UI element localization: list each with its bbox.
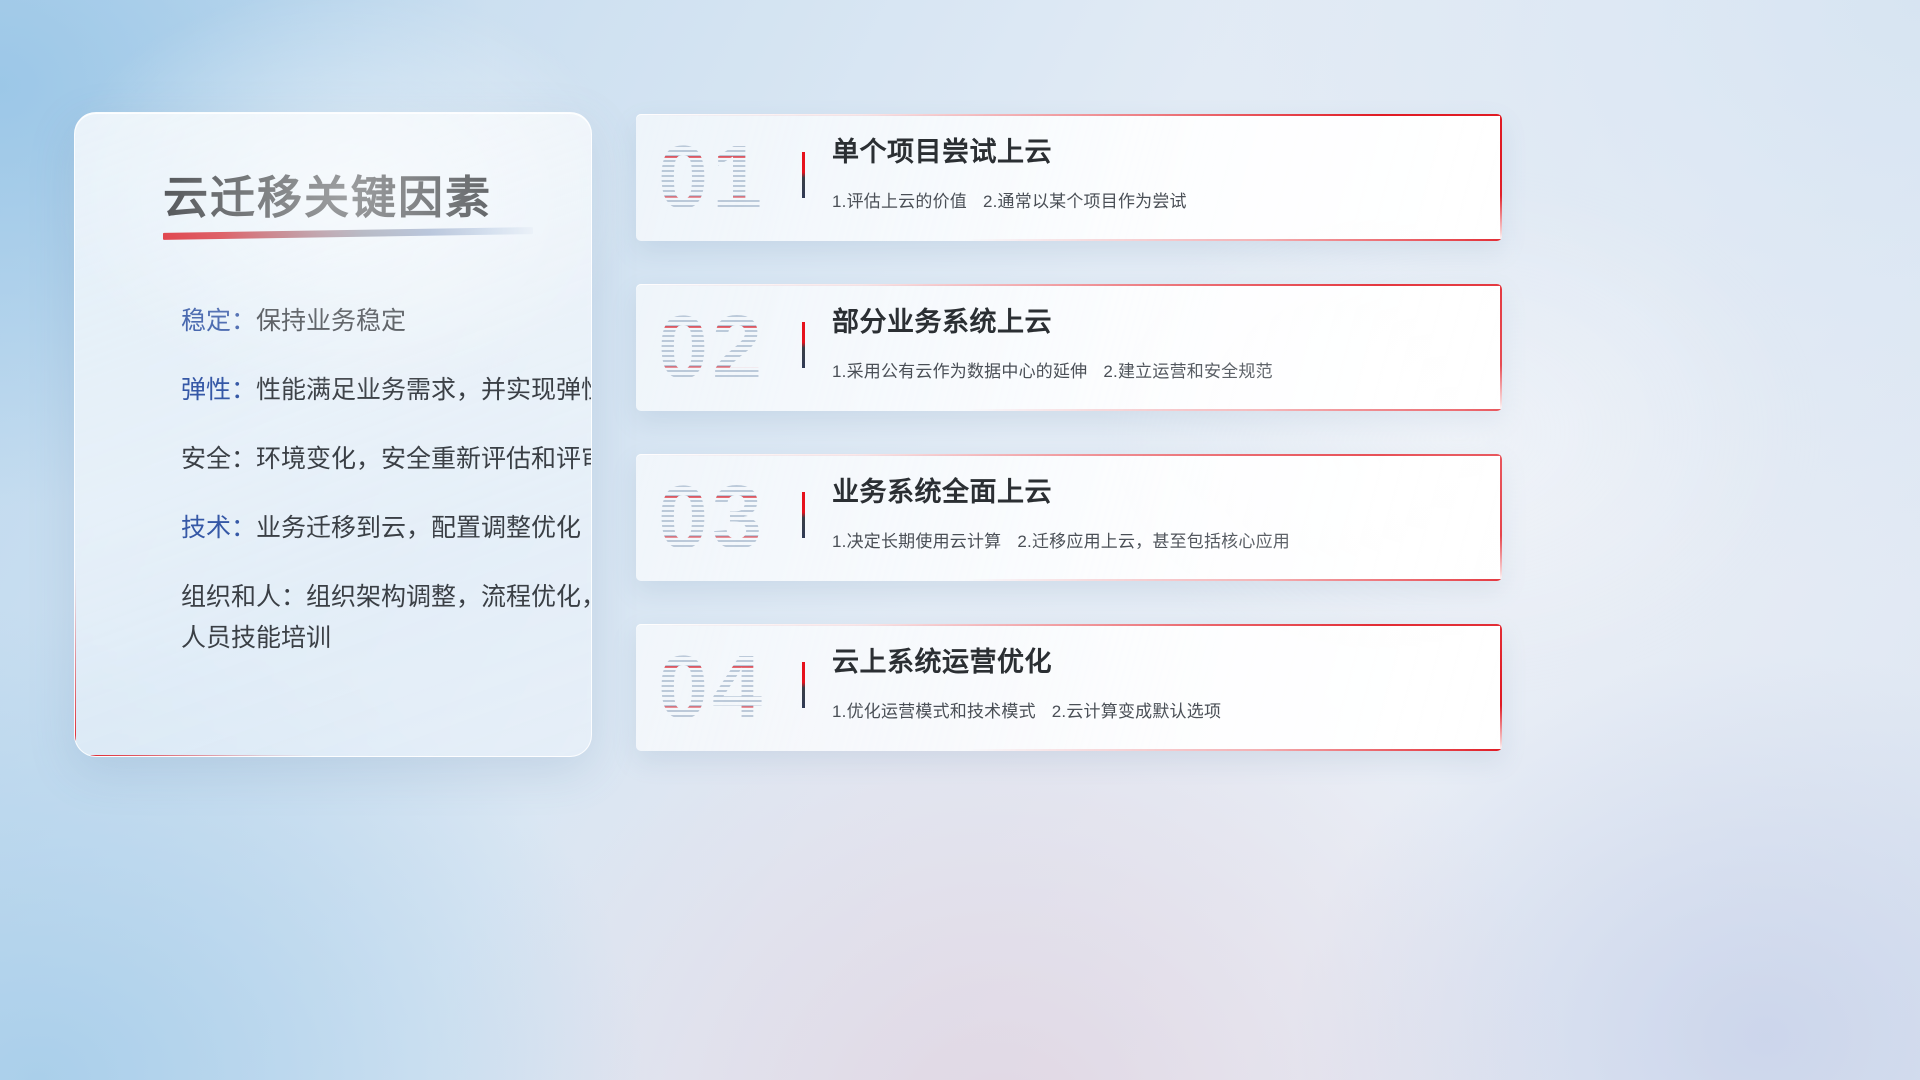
card-divider-bar bbox=[802, 152, 805, 198]
card-bottom-accent bbox=[965, 749, 1502, 751]
stage-number-watermark: 01 bbox=[658, 130, 766, 226]
card-point-1: 1.优化运营模式和技术模式 bbox=[832, 702, 1036, 721]
stage-number-watermark: 03 bbox=[658, 470, 766, 566]
stage-card[interactable]: 01 01 单个项目尝试上云 1.评估上云的价值2.通常以某个项目作为尝试 bbox=[636, 114, 1502, 241]
stage-number-watermark: 04 bbox=[658, 640, 766, 736]
card-heading: 单个项目尝试上云 bbox=[832, 136, 1476, 170]
card-bottom-accent bbox=[965, 409, 1502, 411]
factor-value: 人员技能培训 bbox=[181, 624, 331, 652]
card-body: 部分业务系统上云 1.采用公有云作为数据中心的延伸2.建立运营和安全规范 bbox=[832, 306, 1476, 382]
factor-label: 组织和人： bbox=[181, 583, 306, 611]
stage-card[interactable]: 04 04 云上系统运营优化 1.优化运营模式和技术模式2.云计算变成默认选项 bbox=[636, 624, 1502, 751]
title-underline-rule bbox=[163, 227, 533, 240]
card-point-2: 2.建立运营和安全规范 bbox=[1103, 362, 1272, 381]
card-divider-bar bbox=[802, 322, 805, 368]
card-body: 单个项目尝试上云 1.评估上云的价值2.通常以某个项目作为尝试 bbox=[832, 136, 1476, 212]
card-point-2: 2.迁移应用上云，甚至包括核心应用 bbox=[1017, 532, 1290, 551]
card-heading: 云上系统运营优化 bbox=[832, 646, 1476, 680]
list-item: 技术：业务迁移到云，配置调整优化 bbox=[105, 516, 567, 541]
factor-label: 安全： bbox=[181, 445, 256, 473]
factor-label: 稳定： bbox=[181, 307, 256, 335]
card-body: 云上系统运营优化 1.优化运营模式和技术模式2.云计算变成默认选项 bbox=[832, 646, 1476, 722]
factor-value: 组织架构调整，流程优化， bbox=[306, 583, 592, 611]
factor-value: 保持业务稳定 bbox=[256, 307, 406, 335]
card-bottom-accent bbox=[965, 579, 1502, 581]
stage-card[interactable]: 02 02 部分业务系统上云 1.采用公有云作为数据中心的延伸2.建立运营和安全… bbox=[636, 284, 1502, 411]
card-divider-bar bbox=[802, 662, 805, 708]
stage-card[interactable]: 03 03 业务系统全面上云 1.决定长期使用云计算2.迁移应用上云，甚至包括核… bbox=[636, 454, 1502, 581]
factor-value: 环境变化，安全重新评估和评审 bbox=[256, 445, 592, 473]
key-factors-list: 稳定：保持业务稳定 弹性：性能满足业务需求，并实现弹性 安全：环境变化，安全重新… bbox=[105, 309, 567, 695]
card-heading: 部分业务系统上云 bbox=[832, 306, 1476, 340]
factor-value: 性能满足业务需求，并实现弹性 bbox=[256, 376, 592, 404]
page-title: 云迁移关键因素 bbox=[163, 161, 492, 226]
card-right-accent bbox=[1500, 284, 1502, 411]
card-top-accent bbox=[636, 284, 1502, 286]
stage-number-watermark-red: 03 bbox=[658, 470, 766, 566]
list-item-continuation: 人员技能培训 bbox=[105, 626, 567, 651]
card-subtitle: 1.评估上云的价值2.通常以某个项目作为尝试 bbox=[832, 187, 1476, 212]
factor-value: 业务迁移到云，配置调整优化 bbox=[256, 514, 581, 542]
key-factors-panel: 云迁移关键因素 稳定：保持业务稳定 弹性：性能满足业务需求，并实现弹性 安全：环… bbox=[74, 112, 592, 757]
card-point-2: 2.云计算变成默认选项 bbox=[1052, 702, 1221, 721]
stage-number-watermark: 02 bbox=[658, 300, 766, 396]
card-top-accent bbox=[636, 114, 1502, 116]
slide-canvas: 云迁移关键因素 稳定：保持业务稳定 弹性：性能满足业务需求，并实现弹性 安全：环… bbox=[0, 0, 1920, 1080]
stage-number-watermark-red: 04 bbox=[658, 640, 766, 736]
card-point-1: 1.评估上云的价值 bbox=[832, 192, 967, 211]
list-item: 安全：环境变化，安全重新评估和评审 bbox=[105, 447, 567, 472]
card-subtitle: 1.优化运营模式和技术模式2.云计算变成默认选项 bbox=[832, 697, 1476, 722]
card-right-accent bbox=[1500, 114, 1502, 241]
card-bottom-accent bbox=[965, 239, 1502, 241]
card-subtitle: 1.采用公有云作为数据中心的延伸2.建立运营和安全规范 bbox=[832, 357, 1476, 382]
card-point-1: 1.决定长期使用云计算 bbox=[832, 532, 1001, 551]
stage-number-watermark-red: 01 bbox=[658, 130, 766, 226]
card-heading: 业务系统全面上云 bbox=[832, 476, 1476, 510]
factor-label: 弹性： bbox=[181, 376, 256, 404]
card-top-accent bbox=[636, 454, 1502, 456]
stage-number-watermark-red: 02 bbox=[658, 300, 766, 396]
factor-label: 技术： bbox=[181, 514, 256, 542]
list-item: 弹性：性能满足业务需求，并实现弹性 bbox=[105, 378, 567, 403]
card-right-accent bbox=[1500, 624, 1502, 751]
list-item: 组织和人：组织架构调整，流程优化， bbox=[105, 585, 567, 610]
card-top-accent bbox=[636, 624, 1502, 626]
card-right-accent bbox=[1500, 454, 1502, 581]
card-point-1: 1.采用公有云作为数据中心的延伸 bbox=[832, 362, 1087, 381]
card-point-2: 2.通常以某个项目作为尝试 bbox=[983, 192, 1187, 211]
card-subtitle: 1.决定长期使用云计算2.迁移应用上云，甚至包括核心应用 bbox=[832, 527, 1476, 552]
list-item: 稳定：保持业务稳定 bbox=[105, 309, 567, 334]
card-body: 业务系统全面上云 1.决定长期使用云计算2.迁移应用上云，甚至包括核心应用 bbox=[832, 476, 1476, 552]
migration-stage-cards: 01 01 单个项目尝试上云 1.评估上云的价值2.通常以某个项目作为尝试 02… bbox=[636, 114, 1502, 751]
card-divider-bar bbox=[802, 492, 805, 538]
